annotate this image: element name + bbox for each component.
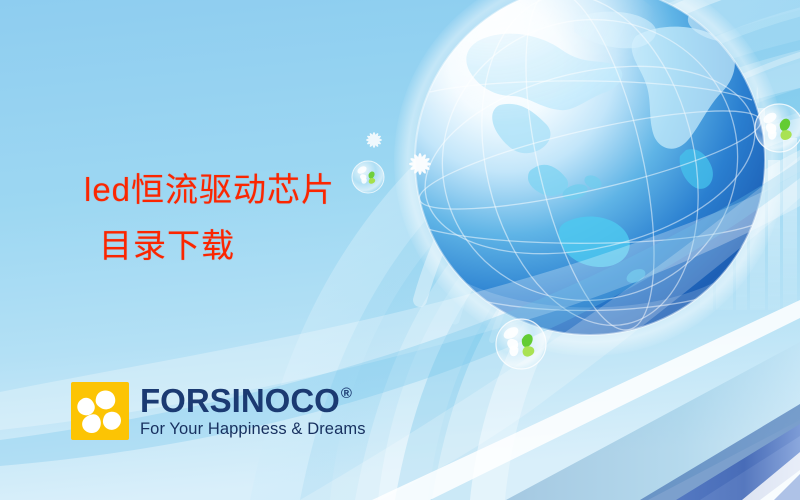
soap-bubble xyxy=(352,161,384,193)
logo-text-block: FORSINOCO ® For Your Happiness & Dreams xyxy=(140,384,366,438)
brand-name: FORSINOCO xyxy=(140,384,340,417)
headline-line-1: led恒流驱动芯片 xyxy=(84,162,335,218)
four-petal-pinwheel-icon xyxy=(71,382,129,440)
headline-line-2: 目录下载 xyxy=(84,218,335,274)
brand-name-row: FORSINOCO ® xyxy=(140,384,366,417)
logo-mark xyxy=(71,382,129,440)
headline-text: led恒流驱动芯片 目录下载 xyxy=(84,162,335,274)
promo-banner: led恒流驱动芯片 目录下载 FORSINOCO ® For Your Happ… xyxy=(0,0,800,500)
brand-tagline: For Your Happiness & Dreams xyxy=(140,421,366,438)
company-logo[interactable]: FORSINOCO ® For Your Happiness & Dreams xyxy=(71,382,366,440)
registered-trademark-symbol: ® xyxy=(341,386,352,401)
soap-bubble xyxy=(496,319,546,369)
soap-bubble xyxy=(755,104,800,152)
